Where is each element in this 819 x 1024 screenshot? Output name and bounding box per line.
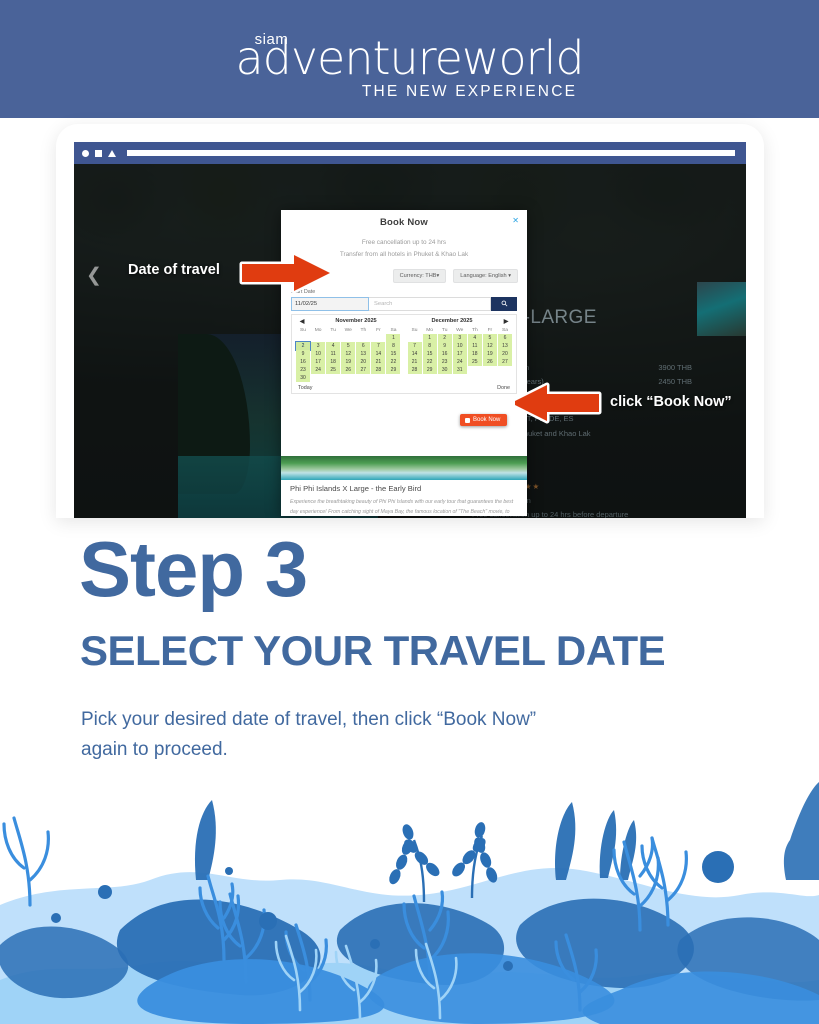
calendar-day-cell[interactable]: 24 [311,366,325,374]
calendar-empty-cell [371,334,385,342]
poster-page: siam adventureworld THE NEW EXPERIENCE D… [0,0,819,1024]
calendar-day-cell[interactable]: 16 [296,358,310,366]
calendar-day-cell[interactable]: 2 [438,334,452,342]
carousel-prev-icon[interactable]: ❮ [86,266,102,285]
calendar-day-cell[interactable]: 27 [356,366,370,374]
calendar-day-cell[interactable]: 9 [296,350,310,358]
address-bar[interactable] [127,150,735,156]
tour-description-text: Experience the breathtaking beauty of Ph… [290,499,514,516]
calendar-day-cell[interactable]: 24 [453,358,467,366]
calendar-footer: Today Done [296,382,512,391]
calendar-month-november: SuMoTuWeThFrSa 1234567891011121314151617… [296,327,401,382]
calendar-grid[interactable]: 1234567891011121314151617181920212223242… [296,334,401,382]
magnifier-icon [501,300,508,307]
calendar-day-cell[interactable]: 26 [341,366,355,374]
calendar-dow-row: SuMoTuWeThFrSa [408,327,513,334]
laptop-frame: Departure PHI X-LARGE Options Adult, per… [56,124,764,518]
calendar-week-row: 30 [296,374,401,382]
calendar-day-cell[interactable]: 15 [423,350,437,358]
calendar-today-link[interactable]: Today [298,385,312,391]
calendar-day-cell[interactable]: 4 [468,334,482,342]
calendar-day-cell[interactable]: 15 [386,350,400,358]
calendar-empty-cell [311,374,325,382]
calendar-day-cell[interactable]: 12 [483,342,497,350]
calendar-prev-icon[interactable]: ◀ [296,318,308,325]
calendar-day-cell[interactable]: 6 [498,334,512,342]
calendar-day-cell[interactable]: 18 [326,358,340,366]
calendar-months: SuMoTuWeThFrSa 1234567891011121314151617… [296,327,512,382]
price-value: 3900 THB [658,361,692,375]
calendar-day-cell[interactable]: 21 [371,358,385,366]
calendar-month-december: SuMoTuWeThFrSa 1234567891011121314151617… [408,327,513,382]
calendar-day-cell[interactable]: 1 [423,334,437,342]
calendar-week-row: 16171819202122 [296,358,401,366]
price-value: 2450 THB [658,375,692,389]
brand-small-text: siam [0,31,681,45]
calendar-day-cell[interactable]: 17 [311,358,325,366]
calendar-day-cell[interactable]: 30 [296,374,310,382]
calendar-dow-cell: Su [408,327,422,334]
calendar-day-cell[interactable]: 18 [468,350,482,358]
calendar-month-title: December 2025 [404,318,500,324]
calendar-dow-cell: Sa [498,327,512,334]
calendar-day-cell[interactable]: 17 [453,350,467,358]
calendar-dow-cell: Th [468,327,482,334]
modal-title: Book Now [291,217,517,228]
chevron-down-icon: ▾ [508,273,511,279]
calendar-next-icon[interactable]: ▶ [500,318,512,325]
calendar-day-cell[interactable]: 11 [468,342,482,350]
calendar-day-cell[interactable]: 22 [386,358,400,366]
circle-icon[interactable] [82,150,89,157]
calendar-day-cell[interactable]: 28 [408,366,422,374]
calendar-empty-cell [296,334,310,342]
calendar-week-row: 9101112131415 [296,350,401,358]
calendar-empty-cell [483,366,497,374]
language-selector[interactable]: Language: English ▾ [453,269,518,283]
calendar-day-cell[interactable]: 3 [311,342,325,350]
calendar-day-cell[interactable]: 23 [296,366,310,374]
calendar-week-row: 23242526272829 [296,366,401,374]
calendar-day-cell[interactable]: 7 [408,342,422,350]
calendar-day-cell[interactable]: 19 [341,358,355,366]
calendar-day-cell[interactable]: 20 [498,350,512,358]
search-button[interactable] [491,297,517,311]
calendar-week-row: 28293031 [408,366,513,374]
calendar-empty-cell [356,334,370,342]
calendar-dow-cell: Mo [423,327,437,334]
calendar-week-row: 1 [296,334,401,342]
language-selector-label: Language: English [460,273,506,279]
tour-card-body: Phi Phi Islands X Large - the Early Bird… [281,480,527,516]
calendar-day-cell[interactable]: 10 [311,350,325,358]
calendar-week-row: 21222324252627 [408,358,513,366]
tour-card-description: Experience the breathtaking beauty of Ph… [290,497,518,516]
calendar-day-cell[interactable]: 2 [296,342,310,350]
calendar-dow-cell: Tu [438,327,452,334]
arrow-left-icon [515,382,603,424]
calendar-day-cell[interactable]: 28 [371,366,385,374]
calendar-empty-cell [408,334,422,342]
chevron-down-icon: ▾ [436,273,439,279]
tour-card-photo [281,456,527,480]
calendar-day-cell[interactable]: 14 [408,350,422,358]
calendar-week-row: 2345678 [296,342,401,350]
step-subtitle: SELECT YOUR TRAVEL DATE [80,630,665,672]
calendar-dow-cell: Fr [483,327,497,334]
calendar-day-cell[interactable]: 16 [438,350,452,358]
tour-card-title: Phi Phi Islands X Large - the Early Bird [290,484,518,493]
step-title: Step 3 [79,530,307,608]
modal-book-now-label: Book Now [473,417,500,423]
calendar-empty-cell [341,374,355,382]
calendar-day-cell[interactable]: 1 [386,334,400,342]
calendar-day-cell[interactable]: 5 [483,334,497,342]
brand-logo: siam adventureworld THE NEW EXPERIENCE [0,22,819,101]
calendar-month-title: November 2025 [308,318,404,324]
calendar-empty-cell [371,374,385,382]
browser-window: Departure PHI X-LARGE Options Adult, per… [74,142,746,518]
calendar-day-cell[interactable]: 21 [408,358,422,366]
annotation-click-book-now: click “Book Now” [610,394,732,410]
calendar-day-cell[interactable]: 14 [371,350,385,358]
calendar-day-cell[interactable]: 8 [423,342,437,350]
calendar-day-cell[interactable]: 31 [453,366,467,374]
calendar-day-cell[interactable]: 23 [438,358,452,366]
calendar-dow-cell: Sa [386,327,400,334]
calendar-empty-cell [386,374,400,382]
calendar-day-cell[interactable]: 9 [438,342,452,350]
calendar-dow-cell: Fr [371,327,385,334]
calendar-dow-cell: We [341,327,355,334]
calendar-empty-cell [356,374,370,382]
calendar-day-cell[interactable]: 12 [341,350,355,358]
calendar-day-cell[interactable]: 22 [423,358,437,366]
calendar-empty-cell [498,366,512,374]
calendar-day-cell[interactable]: 3 [453,334,467,342]
calendar-day-cell[interactable]: 7 [371,342,385,350]
close-icon[interactable]: ✕ [512,216,519,225]
currency-selector-label: Currency: THB [400,273,437,279]
annotation-date-of-travel: Date of travel [128,262,220,278]
arrow-right-icon [238,252,334,294]
calendar-day-cell[interactable]: 25 [326,366,340,374]
calendar-dow-cell: Tu [326,327,340,334]
start-date-input[interactable]: 11/02/25 [291,297,369,311]
step-description-line1: Pick your desired date of travel, then c… [81,709,536,730]
calendar-dow-cell: Th [356,327,370,334]
calendar-day-cell[interactable]: 13 [356,350,370,358]
calendar-day-cell[interactable]: 30 [438,366,452,374]
browser-viewport: Departure PHI X-LARGE Options Adult, per… [74,164,746,518]
calendar-week-row: 123456 [408,334,513,342]
calendar-empty-cell [326,334,340,342]
calendar-day-cell[interactable]: 27 [498,358,512,366]
currency-selector[interactable]: Currency: THB▾ [393,269,447,283]
triangle-icon[interactable] [108,150,116,157]
calendar-day-cell[interactable]: 13 [498,342,512,350]
calendar-day-cell[interactable]: 8 [386,342,400,350]
date-picker: ◀ November 2025 December 2025 ▶ SuMoTuWe… [291,314,517,394]
calendar-day-cell[interactable]: 29 [386,366,400,374]
modal-header: Book Now ✕ [281,210,527,230]
calendar-dow-cell: Su [296,327,310,334]
calendar-empty-cell [468,366,482,374]
calendar-empty-cell [326,374,340,382]
brand-tagline: THE NEW EXPERIENCE [60,83,819,101]
calendar-day-cell[interactable]: 5 [341,342,355,350]
calendar-day-cell[interactable]: 6 [356,342,370,350]
step-description: Pick your desired date of travel, then c… [81,705,536,765]
calendar-day-cell[interactable]: 19 [483,350,497,358]
modal-book-now-button[interactable]: Book Now [460,414,507,426]
calendar-day-cell[interactable]: 29 [423,366,437,374]
calendar-day-cell[interactable]: 20 [356,358,370,366]
product-thumbnail[interactable] [697,282,746,336]
note-line: Free cancellation up to 24 hrs [281,237,527,249]
calendar-header: ◀ November 2025 December 2025 ▶ [296,318,512,325]
calendar-empty-cell [311,334,325,342]
square-icon[interactable] [95,150,102,157]
calendar-dow-cell: Mo [311,327,325,334]
calendar-dow-cell: We [453,327,467,334]
calendar-day-cell[interactable]: 11 [326,350,340,358]
calendar-week-row: 78910111213 [408,342,513,350]
search-input[interactable]: Search [369,297,491,311]
calendar-week-row: 14151617181920 [408,350,513,358]
calendar-dow-row: SuMoTuWeThFrSa [296,327,401,334]
calendar-done-link[interactable]: Done [497,385,510,391]
calendar-day-cell[interactable]: 25 [468,358,482,366]
browser-chrome [74,142,746,164]
calendar-icon [465,418,470,423]
step-description-line2: again to proceed. [81,739,228,760]
calendar-day-cell[interactable]: 4 [326,342,340,350]
calendar-grid[interactable]: 1234567891011121314151617181920212223242… [408,334,513,374]
calendar-day-cell[interactable]: 10 [453,342,467,350]
calendar-empty-cell [341,334,355,342]
calendar-day-cell[interactable]: 26 [483,358,497,366]
